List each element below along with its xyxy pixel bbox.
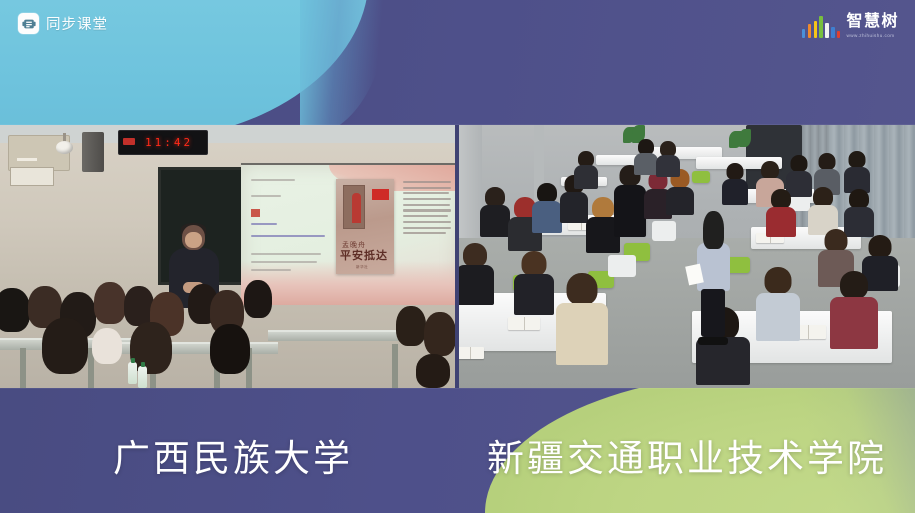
zhihuishu-logo: 智慧树 www.zhihuishu.com [802, 14, 899, 38]
caption-right-university: 新疆交通职业技术学院 [487, 428, 887, 482]
slide-title-large: 平安抵达 [340, 247, 388, 263]
student [634, 139, 658, 175]
student-standing [614, 165, 646, 237]
clock-digits: 11:42 [145, 136, 193, 149]
student [844, 151, 870, 193]
led-clock-display: 11:42 [118, 130, 208, 155]
wall-panel [10, 167, 54, 186]
student-seating-rows [0, 270, 456, 388]
top-bar: 同步课堂 智慧树 www.zhihuishu.com [0, 0, 915, 58]
student [756, 267, 800, 341]
student [830, 271, 878, 349]
student [766, 189, 796, 237]
student [808, 187, 838, 235]
dome-camera-icon [56, 133, 73, 155]
broadcast-stage: 同步课堂 智慧树 www.zhihuishu.com [0, 0, 915, 513]
caption-left-university: 广西民族大学 [113, 428, 353, 482]
video-pane-left[interactable]: 11:42 孟晚舟 平安抵达 新华社 [0, 125, 456, 388]
brand-block: 同步课堂 [18, 13, 108, 34]
student [656, 141, 680, 177]
student [480, 187, 510, 237]
logo-bars-icon [802, 16, 841, 38]
student [514, 251, 554, 315]
classroom-badge-icon [18, 13, 39, 34]
chair-white [652, 221, 676, 241]
slide-red-marker [251, 209, 260, 217]
video-divider [455, 125, 459, 388]
student [722, 163, 748, 205]
brand-label: 同步课堂 [46, 13, 108, 34]
slide-poster: 孟晚舟 平安抵达 新华社 [336, 179, 394, 274]
logo-url: www.zhihuishu.com [846, 33, 894, 38]
student [574, 151, 598, 189]
logo-wordmark: 智慧树 www.zhihuishu.com [846, 14, 899, 38]
student-foreground [556, 273, 608, 365]
logo-name: 智慧树 [846, 14, 899, 30]
video-pane-right[interactable] [456, 125, 915, 388]
potted-plant-b [729, 129, 755, 159]
student [456, 243, 494, 305]
open-book [456, 347, 484, 359]
slide-paragraph [403, 181, 453, 238]
chair-white [608, 255, 636, 277]
wall-speaker [82, 132, 104, 172]
open-book [508, 317, 540, 330]
chair [692, 171, 710, 183]
student [532, 183, 562, 233]
instructor-standing [696, 211, 730, 345]
